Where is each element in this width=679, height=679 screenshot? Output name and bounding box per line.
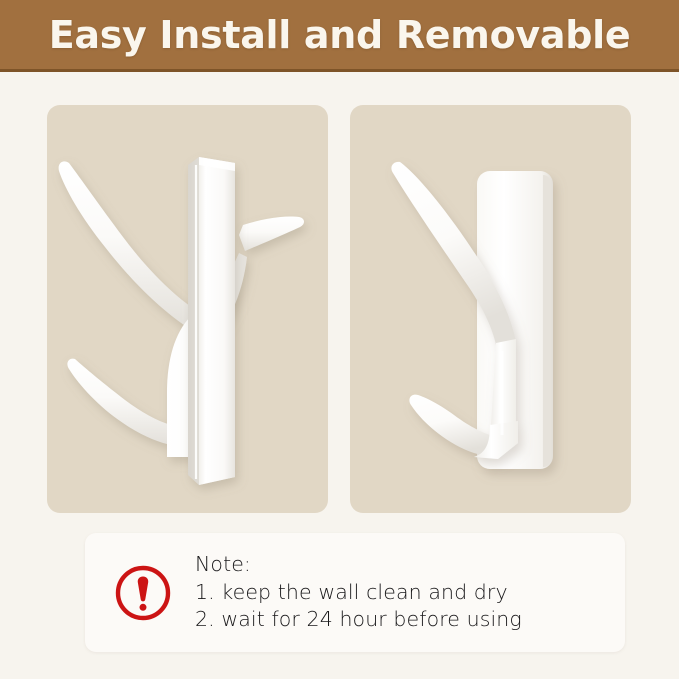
product-gallery [47, 105, 631, 513]
header-banner: Easy Install and Removable [0, 0, 679, 72]
note-box: Note: 1. keep the wall clean and dry 2. … [85, 533, 625, 652]
note-line-2: 2. wait for 24 hour before using [195, 606, 603, 634]
note-line-1: 1. keep the wall clean and dry [195, 579, 603, 607]
warning-exclamation-icon [113, 563, 173, 623]
page-title: Easy Install and Removable [49, 16, 631, 54]
promo-image: Easy Install and Removable [0, 0, 679, 679]
note-text-block: Note: 1. keep the wall clean and dry 2. … [195, 551, 603, 635]
hook-front-view-illustration [350, 105, 631, 513]
product-card-front-view [350, 105, 631, 513]
product-card-side-view [47, 105, 328, 513]
hook-side-view-illustration [47, 105, 328, 513]
note-heading: Note: [195, 551, 603, 579]
